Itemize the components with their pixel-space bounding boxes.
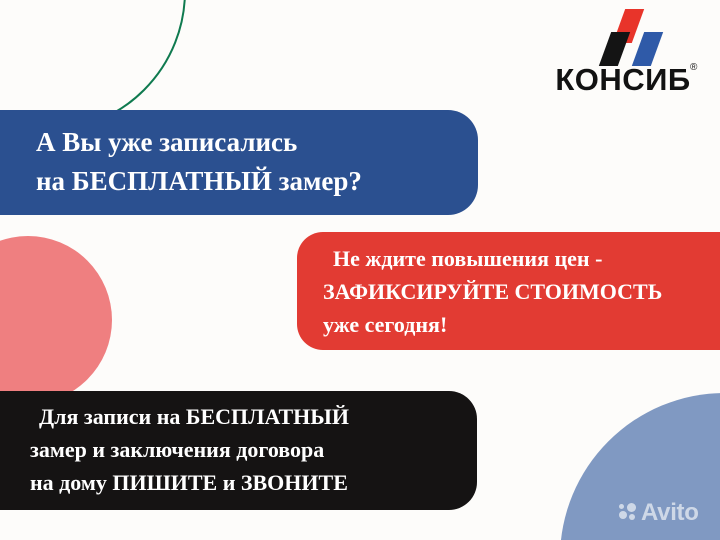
avito-dots-icon bbox=[619, 503, 641, 522]
avito-dot-2 bbox=[627, 503, 636, 512]
cta-line-1: Для записи на БЕСПЛАТНЫЙ bbox=[30, 400, 477, 433]
urgency-line-1: Не ждите повышения цен - bbox=[323, 242, 720, 275]
logo-wordmark: КОНСИБ bbox=[537, 64, 709, 95]
avito-wordmark: Avito bbox=[641, 500, 699, 526]
cta-banner-black: Для записи на БЕСПЛАТНЫЙ замер и заключе… bbox=[0, 391, 477, 510]
cta-line-3: на дому ПИШИТЕ и ЗВОНИТЕ bbox=[30, 466, 477, 499]
avito-dot-4 bbox=[629, 514, 635, 520]
headline-banner-blue: А Вы уже записались на БЕСПЛАТНЫЙ замер? bbox=[0, 110, 478, 215]
logo-parallelogram-blue bbox=[632, 32, 663, 66]
konsib-logo: КОНСИБ ® bbox=[537, 8, 709, 104]
cta-line-2: замер и заключения договора bbox=[30, 433, 477, 466]
konsib-logo-mark-icon bbox=[592, 8, 668, 66]
urgency-line-3: уже сегодня! bbox=[323, 308, 720, 341]
avito-dot-1 bbox=[619, 504, 624, 509]
registered-trademark-symbol: ® bbox=[690, 62, 697, 73]
avito-dot-3 bbox=[619, 511, 627, 519]
salmon-circle-decoration bbox=[0, 236, 112, 404]
urgency-banner-red: Не ждите повышения цен - ЗАФИКСИРУЙТЕ СТ… bbox=[297, 232, 720, 350]
logo-parallelogram-black bbox=[599, 32, 630, 66]
headline-line-1: А Вы уже записались bbox=[36, 123, 478, 162]
avito-watermark: Avito bbox=[619, 500, 707, 526]
promo-banner-image: КОНСИБ ® А Вы уже записались на БЕСПЛАТН… bbox=[0, 0, 720, 540]
headline-line-2: на БЕСПЛАТНЫЙ замер? bbox=[36, 162, 478, 201]
urgency-line-2: ЗАФИКСИРУЙТЕ СТОИМОСТЬ bbox=[323, 275, 720, 308]
